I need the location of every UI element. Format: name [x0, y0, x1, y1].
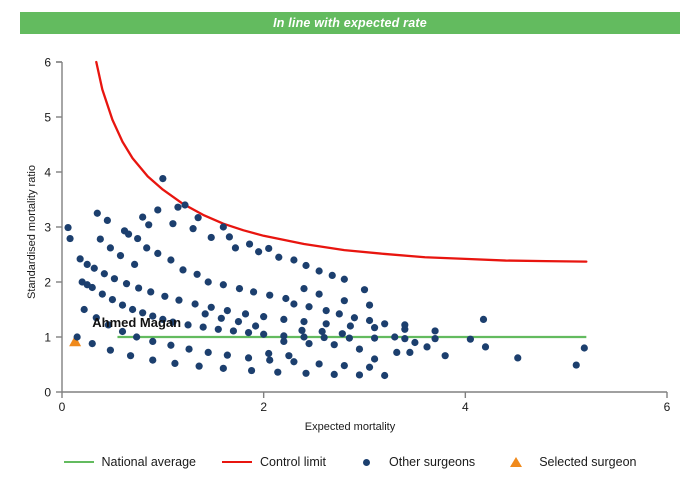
surgeon-data-point — [329, 272, 336, 279]
surgeon-data-point — [99, 291, 106, 298]
surgeon-data-point — [224, 352, 231, 359]
surgeon-data-point — [336, 310, 343, 317]
legend-item-selected-surgeon[interactable]: Selected surgeon — [501, 455, 636, 469]
surgeon-data-point — [356, 346, 363, 353]
surgeon-data-point — [331, 341, 338, 348]
surgeon-data-point — [442, 352, 449, 359]
surgeon-data-point — [129, 306, 136, 313]
surgeon-data-point — [224, 307, 231, 314]
surgeon-data-point — [167, 342, 174, 349]
surgeon-data-point — [371, 355, 378, 362]
surgeon-data-point — [66, 235, 73, 242]
surgeon-data-point — [220, 223, 227, 230]
surgeon-data-point — [260, 331, 267, 338]
surgeon-data-point — [220, 365, 227, 372]
surgeon-data-point — [302, 262, 309, 269]
surgeon-data-point — [94, 210, 101, 217]
surgeon-data-point — [169, 220, 176, 227]
surgeon-data-point — [208, 304, 215, 311]
y-axis-tick-label: 2 — [44, 276, 51, 290]
y-axis-tick-label: 0 — [44, 386, 51, 400]
surgeon-data-point — [280, 316, 287, 323]
surgeon-data-point — [220, 281, 227, 288]
surgeon-data-point — [192, 300, 199, 307]
surgeon-data-point — [298, 327, 305, 334]
surgeon-data-point — [366, 364, 373, 371]
surgeon-data-point — [200, 324, 207, 331]
surgeon-data-point — [119, 302, 126, 309]
surgeon-data-point — [248, 367, 255, 374]
surgeon-data-point — [196, 363, 203, 370]
surgeon-data-point — [77, 255, 84, 262]
legend-label: National average — [102, 455, 197, 469]
surgeon-data-point — [143, 244, 150, 251]
surgeon-data-point — [366, 317, 373, 324]
surgeon-data-point — [581, 344, 588, 351]
surgeon-data-point — [391, 333, 398, 340]
surgeon-data-point — [202, 310, 209, 317]
legend-item-national-average[interactable]: National average — [64, 455, 197, 469]
line-swatch-icon — [64, 461, 94, 463]
surgeon-data-point — [265, 245, 272, 252]
surgeon-data-point — [181, 201, 188, 208]
surgeon-data-point — [167, 256, 174, 263]
surgeon-data-point — [423, 343, 430, 350]
surgeon-data-point — [346, 335, 353, 342]
surgeon-data-point — [133, 333, 140, 340]
surgeon-data-point — [246, 240, 253, 247]
surgeon-data-point — [266, 292, 273, 299]
surgeon-data-point — [366, 302, 373, 309]
surgeon-data-point — [89, 284, 96, 291]
surgeon-data-point — [230, 327, 237, 334]
surgeon-data-point — [255, 248, 262, 255]
y-axis-tick-label: 6 — [44, 56, 51, 70]
surgeon-data-point — [111, 275, 118, 282]
control-limit-curve — [96, 62, 586, 262]
surgeon-data-point — [205, 278, 212, 285]
surgeon-data-point — [431, 335, 438, 342]
surgeon-data-point — [339, 330, 346, 337]
surgeon-data-point — [371, 324, 378, 331]
status-banner-label: In line with expected rate — [273, 16, 427, 30]
legend-item-control-limit[interactable]: Control limit — [222, 455, 326, 469]
surgeon-data-point — [84, 261, 91, 268]
surgeon-data-point — [154, 250, 161, 257]
surgeon-data-point — [235, 318, 242, 325]
surgeon-data-point — [406, 349, 413, 356]
circle-marker-icon — [363, 459, 370, 466]
surgeon-data-point — [573, 361, 580, 368]
surgeon-data-point — [149, 338, 156, 345]
surgeon-data-point — [480, 316, 487, 323]
chart-area: 01234560246Ahmed Magan Standardised mort… — [0, 40, 700, 440]
surgeon-data-point — [331, 371, 338, 378]
surgeon-data-point — [371, 335, 378, 342]
surgeon-data-point — [159, 175, 166, 182]
surgeon-data-point — [134, 235, 141, 242]
surgeon-data-point — [89, 340, 96, 347]
surgeon-data-point — [381, 372, 388, 379]
surgeon-data-point — [104, 217, 111, 224]
funnel-plot-screenshot: In line with expected rate 01234560246Ah… — [0, 0, 700, 500]
surgeon-data-point — [149, 357, 156, 364]
surgeon-data-point — [252, 322, 259, 329]
surgeon-data-point — [127, 352, 134, 359]
surgeon-data-point — [275, 254, 282, 261]
y-axis-tick-label: 4 — [44, 166, 51, 180]
surgeon-data-point — [171, 360, 178, 367]
surgeon-data-point — [145, 221, 152, 228]
selected-surgeon-label: Ahmed Magan — [92, 315, 181, 330]
surgeon-data-point — [323, 320, 330, 327]
surgeon-data-point — [109, 296, 116, 303]
surgeon-data-point — [131, 261, 138, 268]
surgeon-data-point — [245, 329, 252, 336]
surgeon-data-point — [161, 293, 168, 300]
surgeon-data-point — [381, 320, 388, 327]
series-other-surgeons — [64, 175, 587, 379]
chart-legend: National average Control limit Other sur… — [0, 455, 700, 469]
surgeon-data-point — [97, 236, 104, 243]
surgeon-data-point — [302, 370, 309, 377]
legend-label: Selected surgeon — [539, 455, 636, 469]
surgeon-data-point — [232, 244, 239, 251]
surgeon-data-point — [401, 335, 408, 342]
surgeon-data-point — [174, 204, 181, 211]
surgeon-data-point — [91, 265, 98, 272]
surgeon-data-point — [194, 271, 201, 278]
surgeon-data-point — [154, 206, 161, 213]
funnel-plot-svg: 01234560246Ahmed Magan — [0, 40, 700, 440]
surgeon-data-point — [117, 252, 124, 259]
surgeon-data-point — [135, 284, 142, 291]
surgeon-data-point — [125, 231, 132, 238]
x-axis-tick-label: 4 — [462, 400, 469, 414]
surgeon-data-point — [185, 346, 192, 353]
surgeon-data-point — [218, 315, 225, 322]
surgeon-data-point — [411, 339, 418, 346]
surgeon-data-point — [274, 369, 281, 376]
y-axis-tick-label: 1 — [44, 331, 51, 345]
surgeon-data-point — [242, 310, 249, 317]
surgeon-data-point — [393, 349, 400, 356]
surgeon-data-point — [139, 214, 146, 221]
legend-item-other-surgeons[interactable]: Other surgeons — [352, 455, 475, 469]
surgeon-data-point — [285, 352, 292, 359]
surgeon-data-point — [300, 318, 307, 325]
surgeon-data-point — [356, 371, 363, 378]
surgeon-data-point — [341, 362, 348, 369]
surgeon-data-point — [282, 295, 289, 302]
surgeon-data-point — [175, 297, 182, 304]
surgeon-data-point — [81, 306, 88, 313]
surgeon-data-point — [147, 288, 154, 295]
y-axis-tick-label: 3 — [44, 221, 51, 235]
surgeon-data-point — [300, 333, 307, 340]
x-axis-tick-label: 6 — [664, 400, 671, 414]
y-axis-title: Standardised mortality ratio — [26, 132, 38, 332]
surgeon-data-point — [226, 233, 233, 240]
x-axis-tick-label: 0 — [59, 400, 66, 414]
surgeon-data-point — [290, 256, 297, 263]
surgeon-data-point — [290, 300, 297, 307]
surgeon-data-point — [300, 285, 307, 292]
surgeon-data-point — [260, 313, 267, 320]
surgeon-data-point — [265, 350, 272, 357]
x-axis-tick-label: 2 — [260, 400, 267, 414]
surgeon-data-point — [179, 266, 186, 273]
surgeon-data-point — [341, 276, 348, 283]
surgeon-data-point — [347, 322, 354, 329]
y-axis-tick-label: 5 — [44, 111, 51, 125]
triangle-marker-icon — [510, 457, 522, 467]
surgeon-data-point — [245, 354, 252, 361]
surgeon-data-point — [64, 224, 71, 231]
surgeon-data-point — [123, 280, 130, 287]
surgeon-data-point — [189, 225, 196, 232]
surgeon-data-point — [236, 285, 243, 292]
surgeon-data-point — [184, 321, 191, 328]
surgeon-data-point — [208, 234, 215, 241]
surgeon-data-point — [101, 270, 108, 277]
x-axis-title: Expected mortality — [0, 421, 700, 433]
surgeon-data-point — [107, 347, 114, 354]
surgeon-data-point — [401, 321, 408, 328]
surgeon-data-point — [514, 354, 521, 361]
surgeon-data-point — [316, 360, 323, 367]
surgeon-data-point — [215, 326, 222, 333]
surgeon-data-point — [323, 307, 330, 314]
surgeon-data-point — [74, 333, 81, 340]
surgeon-data-point — [195, 214, 202, 221]
status-banner: In line with expected rate — [20, 12, 680, 34]
surgeon-data-point — [305, 303, 312, 310]
surgeon-data-point — [316, 267, 323, 274]
surgeon-data-point — [305, 340, 312, 347]
surgeon-data-point — [482, 343, 489, 350]
surgeon-data-point — [290, 358, 297, 365]
surgeon-data-point — [341, 297, 348, 304]
surgeon-data-point — [467, 336, 474, 343]
surgeon-data-point — [431, 327, 438, 334]
surgeon-data-point — [205, 349, 212, 356]
legend-label: Other surgeons — [389, 455, 475, 469]
surgeon-data-point — [107, 244, 114, 251]
surgeon-data-point — [316, 291, 323, 298]
surgeon-data-point — [361, 286, 368, 293]
legend-label: Control limit — [260, 455, 326, 469]
surgeon-data-point — [319, 328, 326, 335]
line-swatch-icon — [222, 461, 252, 463]
surgeon-data-point — [250, 288, 257, 295]
surgeon-data-point — [266, 357, 273, 364]
surgeon-data-point — [280, 338, 287, 345]
surgeon-data-point — [351, 314, 358, 321]
